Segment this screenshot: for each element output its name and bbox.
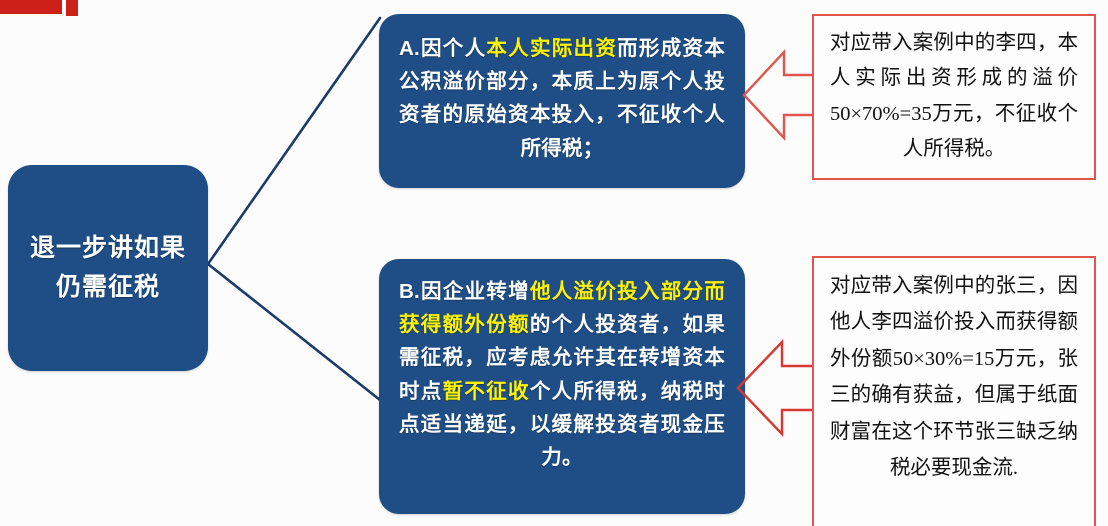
text-phrase: A.因个人	[399, 37, 486, 60]
left-arrow-icon-a	[742, 30, 820, 160]
root-line-1: 退一步讲如果	[30, 229, 186, 268]
note-b-text: 对应带入案例中的张三，因他人李四溢价投入而获得额外份额50×30%=15万元，张…	[830, 268, 1078, 487]
branch-a-text: A.因个人本人实际出资而形成资本公积溢价部分，本质上为原个人投资者的原始资本投入…	[399, 32, 725, 165]
highlighted-phrase: 暂不征收	[443, 380, 530, 403]
text-phrase: B.因企业转增	[399, 280, 530, 303]
note-box-a: 对应带入案例中的李四，本人实际出资形成的溢价50×70%=35万元，不征收个人所…	[812, 14, 1096, 180]
root-node-text: 退一步讲如果 仍需征税	[30, 229, 186, 307]
red-marker-bar-secondary	[66, 0, 78, 16]
red-marker-bar	[0, 0, 62, 14]
note-a-text: 对应带入案例中的李四，本人实际出资形成的溢价50×70%=35万元，不征收个人所…	[830, 26, 1078, 168]
root-node[interactable]: 退一步讲如果 仍需征税	[8, 165, 208, 371]
highlighted-phrase: 本人实际出资	[486, 37, 617, 60]
branch-b-node[interactable]: B.因企业转增他人溢价投入部分而获得额外份额的个人投资者，如果需征税，应考虑允许…	[379, 259, 745, 514]
root-line-2: 仍需征税	[30, 268, 186, 307]
branch-a-node[interactable]: A.因个人本人实际出资而形成资本公积溢价部分，本质上为原个人投资者的原始资本投入…	[379, 14, 745, 188]
diagram-canvas: 退一步讲如果 仍需征税 A.因个人本人实际出资而形成资本公积溢价部分，本质上为原…	[0, 0, 1108, 526]
branch-b-text: B.因企业转增他人溢价投入部分而获得额外份额的个人投资者，如果需征税，应考虑允许…	[399, 275, 725, 474]
note-box-b: 对应带入案例中的张三，因他人李四溢价投入而获得额外份额50×30%=15万元，张…	[812, 256, 1096, 526]
left-arrow-icon-b	[736, 322, 820, 454]
